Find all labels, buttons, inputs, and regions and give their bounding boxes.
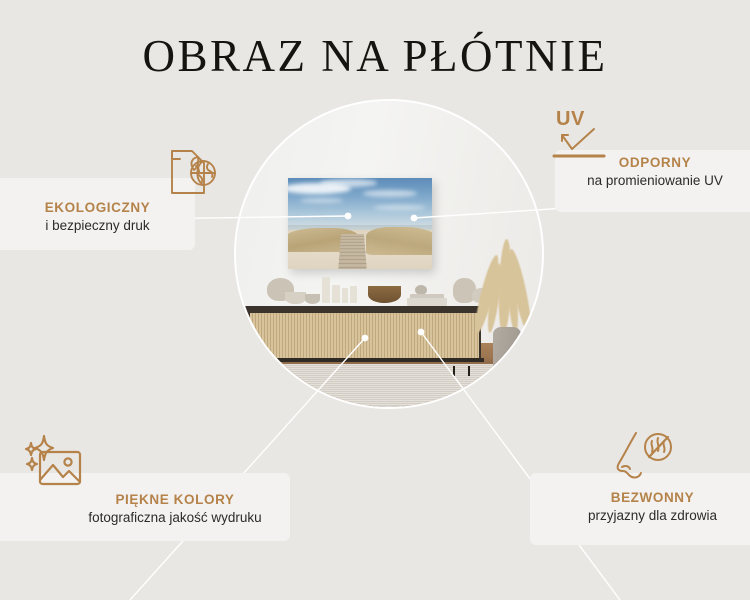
feature-heading: PIĘKNE KOLORY bbox=[60, 492, 290, 507]
feature-heading: BEZWONNY bbox=[540, 490, 750, 505]
feature-heading: EKOLOGICZNY bbox=[0, 200, 195, 215]
candle bbox=[350, 286, 357, 303]
nose-no-smell-icon bbox=[608, 427, 680, 489]
dune-grass-right bbox=[366, 227, 432, 255]
cloud bbox=[300, 198, 343, 204]
room-scene bbox=[236, 101, 542, 407]
cloud bbox=[320, 179, 378, 186]
sideboard-leg bbox=[453, 366, 455, 376]
candle bbox=[322, 277, 330, 303]
wooden-bowl bbox=[368, 286, 402, 303]
sideboard-fluted-doors bbox=[248, 313, 482, 358]
feature-subtext: przyjazny dla zdrowia bbox=[540, 508, 750, 523]
sideboard-leg bbox=[259, 366, 261, 376]
candle bbox=[332, 285, 339, 303]
sideboard-top bbox=[245, 306, 484, 313]
picture-sparkle-icon bbox=[22, 432, 94, 498]
cloud bbox=[374, 205, 424, 210]
cloud bbox=[363, 190, 418, 196]
sideboard bbox=[245, 306, 484, 367]
books-stack bbox=[407, 298, 447, 305]
boardwalk-path bbox=[338, 234, 367, 269]
feature-subtext: fotograficzna jakość wydruku bbox=[60, 510, 290, 525]
document-leaf-globe-icon bbox=[158, 137, 226, 205]
sideboard-leg bbox=[468, 366, 470, 376]
feature-text-piekne-kolory: PIĘKNE KOLORY fotograficzna jakość wydru… bbox=[60, 492, 290, 525]
page-title: OBRAZ NA PŁÓTNIE bbox=[0, 30, 750, 82]
canvas-artwork bbox=[288, 178, 432, 270]
product-scene-circle bbox=[236, 101, 542, 407]
feature-text-bezwonny: BEZWONNY przyjazny dla zdrowia bbox=[540, 490, 750, 523]
feature-text-odporny: ODPORNY na promieniowanie UV bbox=[560, 155, 750, 188]
sideboard-base bbox=[245, 358, 484, 362]
feature-subtext: i bezpieczny druk bbox=[0, 218, 195, 233]
tall-floor-vase bbox=[493, 327, 521, 379]
feature-text-ekologiczny: EKOLOGICZNY i bezpieczny druk bbox=[0, 200, 195, 233]
feature-subtext: na promieniowanie UV bbox=[560, 173, 750, 188]
feature-heading: ODPORNY bbox=[560, 155, 750, 170]
sideboard-leg bbox=[274, 366, 276, 376]
ceramic-bowl bbox=[305, 294, 320, 304]
ceramic-bowl bbox=[285, 292, 306, 304]
uv-icon-label: UV bbox=[556, 108, 585, 131]
candle bbox=[342, 288, 349, 303]
